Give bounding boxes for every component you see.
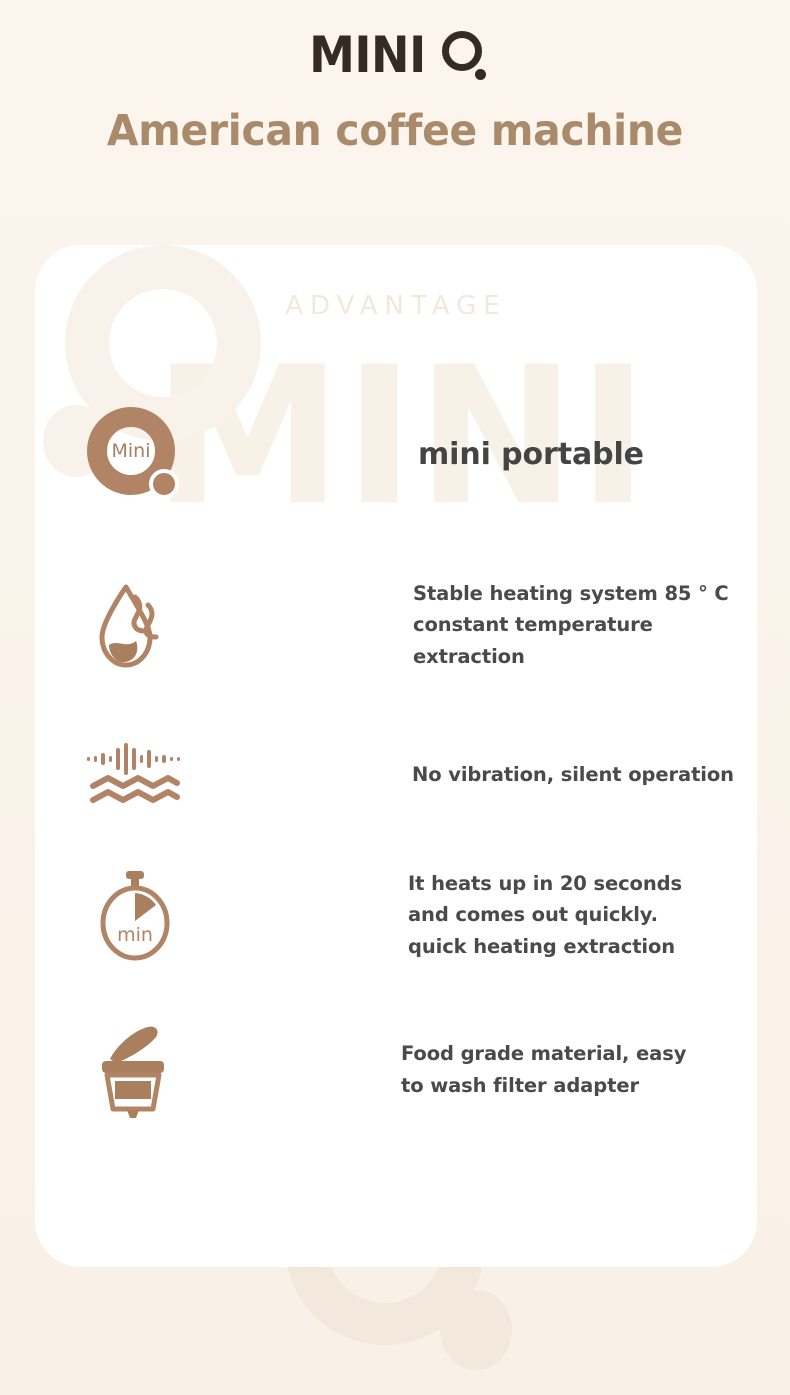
brand-logo: MINI (304, 26, 487, 84)
q-logo-ring (442, 31, 482, 71)
page-title: American coffee machine (20, 106, 771, 156)
feature-icon-slot: Mini (35, 390, 235, 520)
feature-icon-slot (35, 710, 235, 840)
svg-text:min: min (117, 924, 153, 946)
filter-basket-icon (86, 1017, 184, 1123)
stopwatch-icon: min (92, 867, 178, 963)
q-logo-icon (442, 29, 486, 81)
feature-row: min It heats up in 20 seconds and comes … (35, 850, 757, 980)
q-watermark-dot (440, 1290, 512, 1370)
feature-row: Mini mini portable (35, 390, 757, 520)
feature-text: mini portable (418, 431, 644, 480)
q-logo-dot (475, 69, 486, 80)
mini-q-dot (149, 469, 179, 499)
brand-wordmark: MINI (309, 30, 426, 80)
feature-icon-slot: min (35, 850, 235, 980)
feature-icon-slot (35, 560, 235, 690)
feature-text: It heats up in 20 seconds and comes out … (408, 868, 682, 963)
page-root: MINI American coffee machine MINI ADVANT… (0, 0, 790, 1395)
heat-droplet-icon (92, 579, 178, 671)
feature-text: Food grade material, easy to wash filter… (401, 1038, 686, 1101)
advantage-card: MINI ADVANTAGE Mini mini portable (35, 245, 757, 1267)
page-header: MINI American coffee machine (0, 0, 790, 156)
feature-row: Food grade material, easy to wash filter… (35, 1005, 757, 1135)
feature-text: Stable heating system 85 ° C constant te… (413, 578, 729, 673)
feature-text: No vibration, silent operation (412, 759, 734, 791)
advantage-heading: ADVANTAGE (35, 291, 757, 321)
mini-q-badge-icon: Mini (87, 407, 183, 503)
feature-row: Stable heating system 85 ° C constant te… (35, 560, 757, 690)
sound-wave-vibration-icon (85, 740, 185, 810)
feature-row: No vibration, silent operation (35, 710, 757, 840)
feature-icon-slot (35, 1005, 235, 1135)
